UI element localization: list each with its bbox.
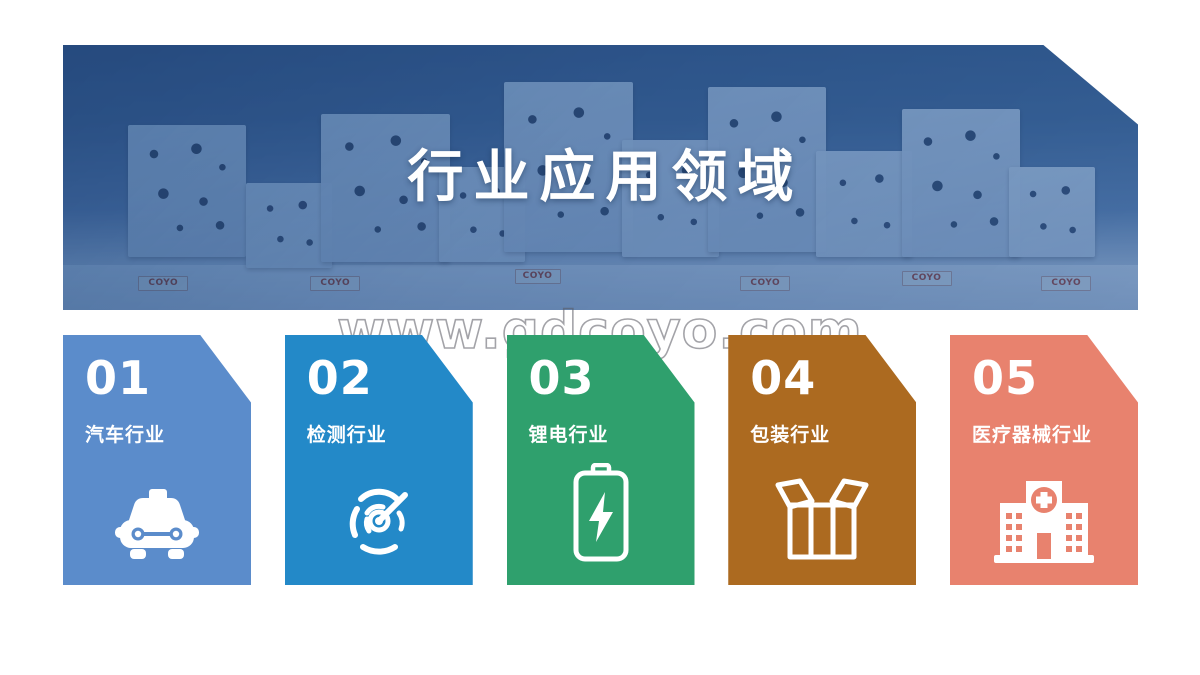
card-label: 锂电行业: [529, 425, 695, 446]
industry-card-medical-device[interactable]: 05 医疗器械行业: [950, 335, 1138, 585]
slide-canvas: COYO COYO COYO COYO COYO COYO 行业应用领域 www…: [0, 0, 1200, 675]
card-number: 01: [85, 355, 251, 401]
car-icon: [63, 487, 251, 563]
industry-card-inspection[interactable]: 02 检测行业: [285, 335, 473, 585]
hospital-icon: [950, 481, 1138, 563]
battery-bolt-icon: [507, 463, 695, 563]
card-label: 医疗器械行业: [972, 425, 1138, 446]
card-label: 汽车行业: [85, 425, 251, 446]
page-title: 行业应用领域: [63, 150, 1138, 206]
card-label: 检测行业: [307, 425, 473, 446]
card-number: 03: [529, 355, 695, 401]
industry-card-row: 01 汽车行业: [63, 335, 1138, 585]
card-number: 04: [750, 355, 916, 401]
card-label: 包装行业: [750, 425, 916, 446]
radar-detection-icon: [285, 471, 473, 563]
industry-card-packaging[interactable]: 04 包装行业: [728, 335, 916, 585]
card-number: 05: [972, 355, 1138, 401]
card-number: 02: [307, 355, 473, 401]
industry-card-automotive[interactable]: 01 汽车行业: [63, 335, 251, 585]
industry-card-lithium-battery[interactable]: 03 锂电行业: [507, 335, 695, 585]
open-box-icon: [728, 473, 916, 563]
hero-banner: COYO COYO COYO COYO COYO COYO 行业应用领域: [63, 45, 1138, 310]
